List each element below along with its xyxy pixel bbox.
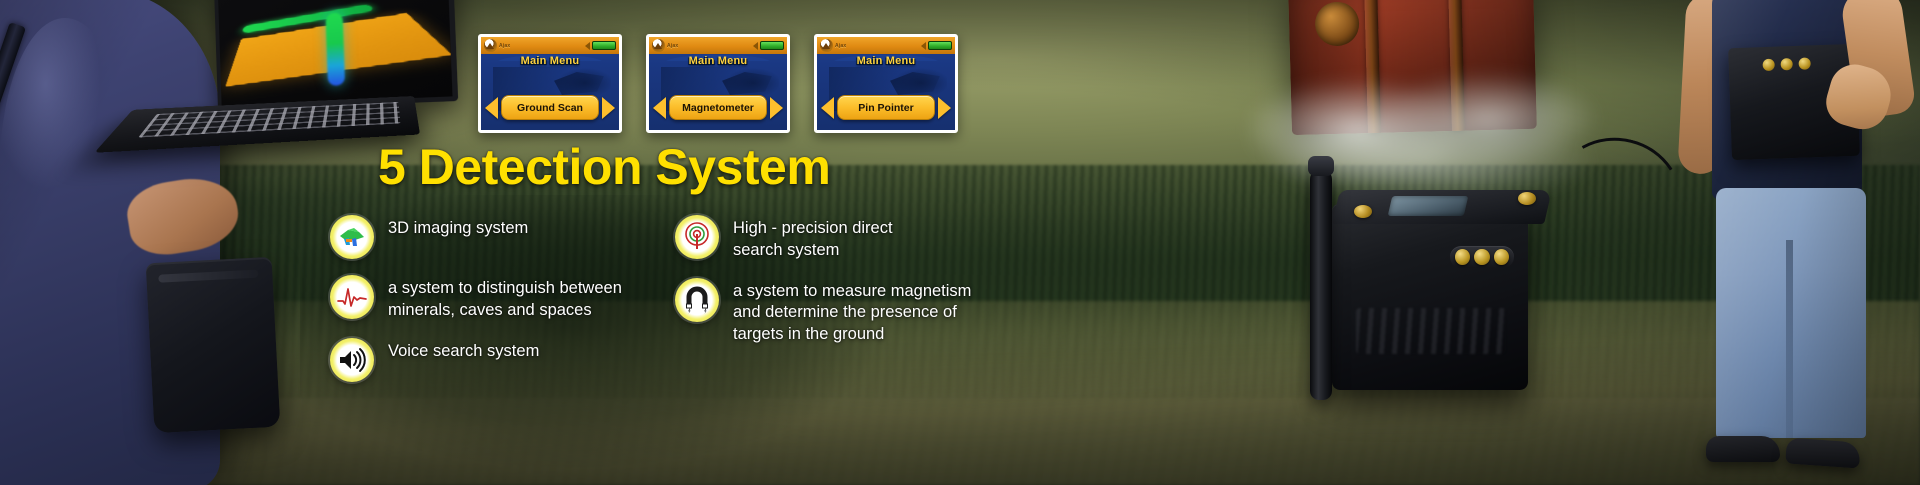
screen-title: Main Menu: [481, 55, 619, 67]
screen-mode-selector: Magnetometer: [649, 95, 787, 120]
case-knob-row: [1450, 246, 1514, 268]
right-arrow-icon[interactable]: [938, 97, 951, 119]
right-arrow-icon[interactable]: [770, 97, 783, 119]
speaker-sound-icon: [330, 338, 374, 382]
brand-logo: Ajax: [484, 39, 510, 52]
device-knob-icon: [1798, 57, 1810, 69]
device-screen-ground-scan[interactable]: Ajax Main Menu Ground Scan: [478, 34, 622, 133]
ajax-logo-icon: [484, 39, 497, 52]
ajax-logo-icon: [652, 39, 665, 52]
left-arrow-icon[interactable]: [821, 97, 834, 119]
feature-item-high-precision-search: High - precision direct search system: [675, 215, 1005, 262]
screen-status-bar: Ajax: [481, 37, 619, 54]
brand-logo: Ajax: [820, 39, 846, 52]
speaker-icon: [921, 42, 926, 50]
mode-button[interactable]: Ground Scan: [501, 95, 599, 120]
laptop-image: [146, 0, 436, 152]
case-display-window: [1388, 196, 1469, 216]
detector-pole: [1310, 170, 1332, 400]
3d-terrain-icon: [330, 215, 374, 259]
feature-column-right: High - precision direct search system a …: [675, 215, 1005, 362]
brand-logo: Ajax: [652, 39, 678, 52]
feature-column-left: 3D imaging system a system to distinguis…: [330, 215, 660, 398]
left-arrow-icon[interactable]: [653, 97, 666, 119]
device-screen-panels: Ajax Main Menu Ground Scan Ajax: [478, 34, 958, 133]
page-title: 5 Detection System: [378, 138, 830, 196]
feature-label: a system to measure magnetism and determ…: [733, 278, 971, 346]
right-person-shoe: [1706, 436, 1780, 462]
right-person-shoe: [1785, 437, 1861, 468]
laptop-screen: [214, 0, 458, 110]
case-latch-icon: [1354, 205, 1372, 218]
device-screen-magnetometer[interactable]: Ajax Main Menu Magnetometer: [646, 34, 790, 133]
feature-item-magnetism-measurement: a system to measure magnetism and determ…: [675, 278, 1005, 346]
case-embossing: [1356, 308, 1506, 354]
screen-status-bar: Ajax: [817, 37, 955, 54]
status-indicators: [753, 41, 784, 50]
battery-full-icon: [760, 41, 784, 50]
feature-label: a system to distinguish between minerals…: [388, 275, 622, 322]
laptop-keyboard: [138, 102, 400, 138]
feature-label: High - precision direct search system: [733, 215, 893, 262]
feature-label: 3D imaging system: [388, 215, 528, 240]
speaker-icon: [585, 42, 590, 50]
right-arrow-icon[interactable]: [602, 97, 615, 119]
speaker-icon: [753, 42, 758, 50]
left-arrow-icon[interactable]: [485, 97, 498, 119]
screen-mode-selector: Ground Scan: [481, 95, 619, 120]
brand-wordmark: Ajax: [835, 43, 846, 49]
magnet-icon: [675, 278, 719, 322]
case-knob-icon: [1494, 249, 1509, 265]
mode-button[interactable]: Magnetometer: [669, 95, 767, 120]
case-knob-icon: [1474, 249, 1489, 265]
brand-wordmark: Ajax: [667, 43, 678, 49]
feature-item-3d-imaging: 3D imaging system: [330, 215, 660, 259]
detector-carrying-case: [1332, 190, 1564, 395]
mode-button[interactable]: Pin Pointer: [837, 95, 935, 120]
right-person-jeans: [1716, 188, 1866, 438]
brand-wordmark: Ajax: [499, 43, 510, 49]
waveform-pulse-icon: [330, 275, 374, 319]
right-person-figure: [1660, 0, 1920, 485]
feature-label: Voice search system: [388, 338, 539, 363]
feature-item-voice-search: Voice search system: [330, 338, 660, 382]
status-indicators: [585, 41, 616, 50]
3d-scan-green-column: [325, 12, 345, 86]
screen-status-bar: Ajax: [649, 37, 787, 54]
device-knob-icon: [1762, 59, 1774, 71]
feature-item-mineral-cave-distinction: a system to distinguish between minerals…: [330, 275, 660, 322]
device-knob-icon: [1780, 58, 1792, 70]
status-indicators: [921, 41, 952, 50]
case-front-panel: [1332, 204, 1528, 390]
screen-title: Main Menu: [649, 55, 787, 67]
banner-stage: Ajax Main Menu Ground Scan Ajax: [0, 0, 1920, 485]
case-knob-icon: [1455, 249, 1470, 265]
case-latch-icon: [1518, 192, 1536, 205]
device-knob-row: [1762, 57, 1810, 71]
battery-full-icon: [928, 41, 952, 50]
target-antenna-icon: [675, 215, 719, 259]
battery-full-icon: [592, 41, 616, 50]
device-screen-pin-pointer[interactable]: Ajax Main Menu Pin Pointer: [814, 34, 958, 133]
screen-mode-selector: Pin Pointer: [817, 95, 955, 120]
ajax-logo-icon: [820, 39, 833, 52]
screen-title: Main Menu: [817, 55, 955, 67]
shoulder-bag: [146, 257, 281, 433]
